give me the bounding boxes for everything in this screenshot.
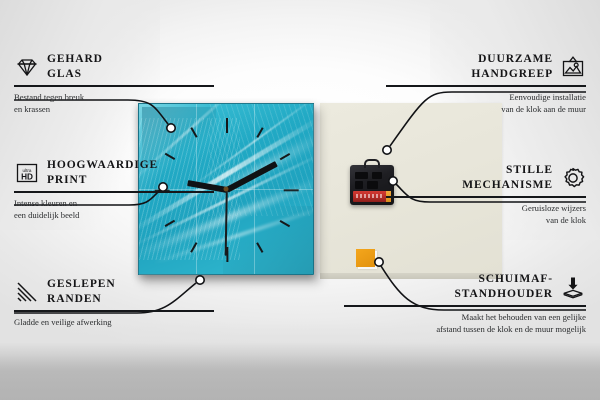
connector-dot-gehard-glas	[167, 124, 175, 132]
feature-divider	[14, 191, 214, 192]
feature-divider	[386, 85, 586, 86]
picture-frame-icon	[560, 54, 586, 80]
feature-title: HOOGWAARDIGE PRINT	[47, 158, 158, 188]
feature-title: SCHUIMAF- STANDHOUDER	[344, 272, 553, 302]
ultra-hd-icon: ultra HD	[14, 160, 40, 186]
feature-description: Intense kleuren en een duidelijk beeld	[14, 197, 214, 221]
feature-divider	[14, 310, 214, 311]
gear-icon	[560, 165, 586, 191]
feature-title: DUURZAME HANDGREEP	[386, 52, 553, 82]
feature-title: GEHARD GLAS	[47, 52, 103, 82]
diamond-icon	[14, 54, 40, 80]
svg-text:HD: HD	[21, 173, 33, 182]
feature-description: Eenvoudige installatie van de klok aan d…	[386, 91, 586, 115]
feature-geslepen-randen: GESLEPEN RANDEN Gladde en veilige afwerk…	[14, 277, 214, 328]
feature-header: DUURZAME HANDGREEP	[386, 52, 586, 82]
feature-description: Gladde en veilige afwerking	[14, 316, 214, 328]
feature-header: SCHUIMAF- STANDHOUDER	[344, 272, 586, 302]
infographic-canvas: GEHARD GLAS Bestand tegen breuk en krass…	[0, 0, 600, 400]
feature-divider	[386, 196, 586, 197]
feature-stille-mechanisme: STILLE MECHANISME Geruisloze wijzers van…	[386, 163, 586, 226]
feature-description: Maakt het behouden van een gelijke afsta…	[344, 311, 586, 335]
spacer-press-icon	[560, 274, 586, 300]
beveled-edges-icon	[14, 279, 40, 305]
feature-schuimafstandhouder: SCHUIMAF- STANDHOUDER Maakt het behouden…	[344, 272, 586, 335]
feature-header: GEHARD GLAS	[14, 52, 214, 82]
connector-dot-duurzame-handgreep	[383, 146, 391, 154]
feature-divider	[344, 305, 586, 306]
feature-gehard-glas: GEHARD GLAS Bestand tegen breuk en krass…	[14, 52, 214, 115]
feature-header: GESLEPEN RANDEN	[14, 277, 214, 307]
feature-divider	[14, 85, 214, 86]
feature-hoogwaardige-print: ultra HD HOOGWAARDIGE PRINT Intense kleu…	[14, 158, 214, 221]
feature-title: STILLE MECHANISME	[386, 163, 553, 193]
feature-header: STILLE MECHANISME	[386, 163, 586, 193]
feature-description: Bestand tegen breuk en krassen	[14, 91, 214, 115]
connector-dot-schuimafstandhouder	[375, 258, 383, 266]
feature-title: GESLEPEN RANDEN	[47, 277, 116, 307]
feature-duurzame-handgreep: DUURZAME HANDGREEP Eenvoudige installati…	[386, 52, 586, 115]
feature-description: Geruisloze wijzers van de klok	[386, 202, 586, 226]
feature-header: ultra HD HOOGWAARDIGE PRINT	[14, 158, 214, 188]
